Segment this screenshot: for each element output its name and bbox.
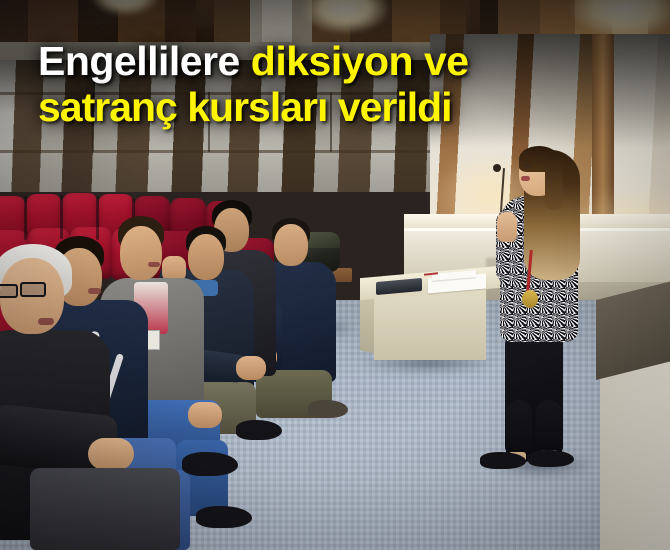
seat-gap [24, 196, 27, 240]
back-wall-rail-bottom [0, 150, 470, 153]
audience-shoe [182, 452, 238, 476]
speaker-hair-side [545, 152, 563, 210]
microphone-head-icon [493, 164, 501, 172]
audience-hand-lap [236, 356, 266, 380]
speaker-shoe-left [480, 452, 526, 469]
desk-front-panel [374, 288, 486, 360]
audience-shoe [236, 420, 282, 440]
speaker-shoe-right [528, 450, 574, 467]
audience-leg [30, 468, 180, 550]
audience-shoe [196, 506, 252, 528]
ceiling-beam-left [196, 0, 214, 46]
audience-hand-lap [188, 402, 222, 428]
back-wall-shading [0, 60, 470, 192]
audience-mouth [88, 288, 101, 294]
speaker-badge [522, 290, 538, 308]
wall-divider-1 [92, 92, 94, 152]
back-wall-rail-top [0, 92, 470, 95]
speaker-hand [497, 212, 517, 242]
eyeglasses-icon [20, 282, 46, 297]
audience-head [120, 226, 162, 280]
audience-hand-lap [88, 438, 134, 470]
speaker-mouth [521, 176, 530, 181]
seat-gap [96, 196, 99, 240]
audience-lanyard [146, 330, 160, 350]
news-photo-card: Engellilere diksiyon ve satranç kursları… [0, 0, 670, 550]
conference-hall-scene [0, 0, 670, 550]
wall-divider-3 [330, 92, 332, 152]
audience-head [274, 224, 308, 266]
audience-mouth [148, 262, 160, 267]
speaker-eye [524, 164, 531, 167]
audience-head [188, 234, 224, 280]
audience-mouth [38, 318, 54, 325]
eyeglasses-icon-lens2 [0, 284, 18, 298]
audience-shoe [308, 400, 348, 418]
wall-divider-2 [208, 92, 210, 152]
seat-gap [60, 195, 63, 239]
